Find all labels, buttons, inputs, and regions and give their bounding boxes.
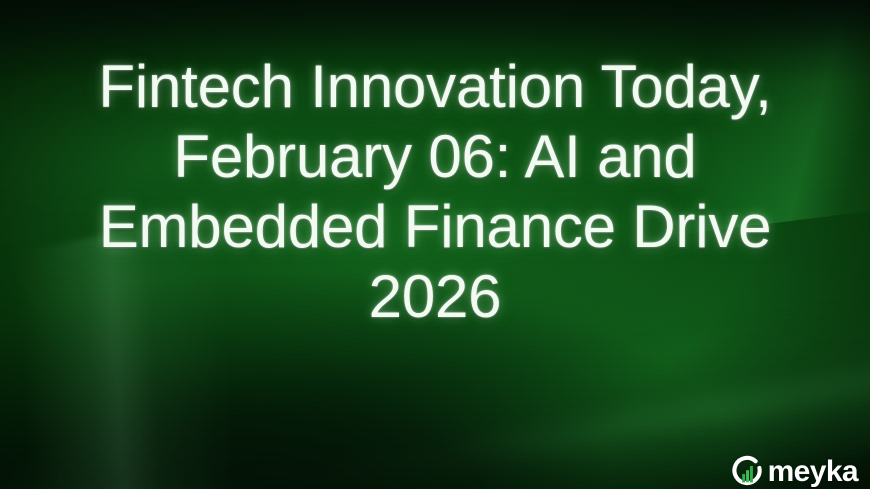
title-card: Fintech Innovation Today, February 06: A… [0, 0, 870, 489]
page-title: Fintech Innovation Today, February 06: A… [0, 52, 870, 332]
brand-watermark: meyka [731, 453, 858, 489]
meyka-circle-bars-icon [731, 455, 765, 489]
brand-name: meyka [768, 455, 858, 489]
